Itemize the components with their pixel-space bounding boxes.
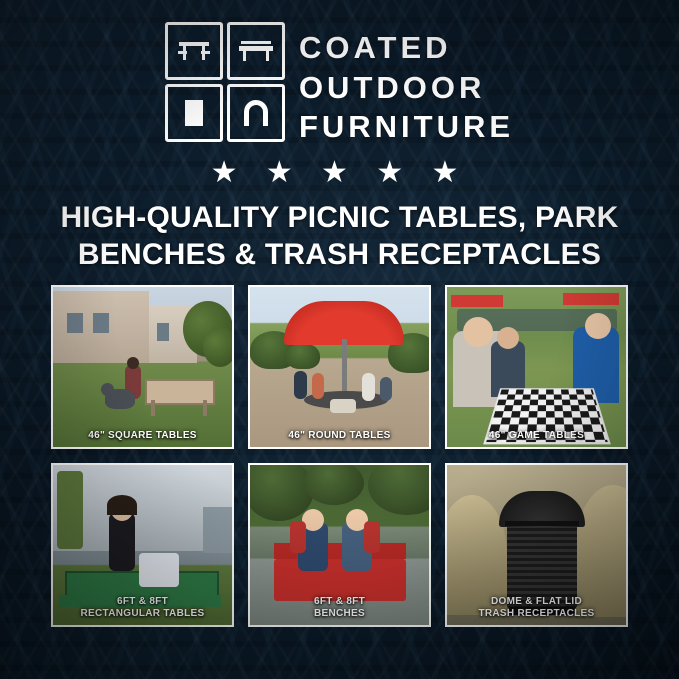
park-bench-icon [227, 22, 285, 80]
product-tile-round-tables[interactable]: 46" ROUND TABLES [248, 285, 431, 449]
product-tile-benches[interactable]: 6FT & 8FT BENCHES [248, 463, 431, 627]
page-title: HIGH-QUALITY PICNIC TABLES, PARK BENCHES… [30, 200, 649, 273]
logo-line-1: COATED [299, 28, 514, 68]
product-photo-square-tables [53, 287, 232, 447]
picnic-table-icon [165, 22, 223, 80]
caption-line-2: TRASH RECEPTACLES [451, 608, 622, 620]
product-tile-trash-receptacles[interactable]: DOME & FLAT LID TRASH RECEPTACLES [445, 463, 628, 627]
product-caption: 6FT & 8FT BENCHES [250, 596, 429, 619]
product-photo-game-tables [447, 287, 626, 447]
product-photo-round-tables [250, 287, 429, 447]
product-grid: 46" SQUARE TABLES [51, 285, 628, 627]
star-rating: ★ ★ ★ ★ ★ [0, 158, 679, 188]
poster-content: COATED OUTDOOR FURNITURE ★ ★ ★ ★ ★ HIGH-… [0, 0, 679, 679]
product-caption: 46" GAME TABLES [447, 430, 626, 442]
caption-line-1: 6FT & 8FT [254, 596, 425, 608]
caption-line-1: 46" SQUARE TABLES [57, 430, 228, 442]
brand-logo: COATED OUTDOOR FURNITURE [0, 22, 679, 147]
logo-mark [165, 22, 285, 142]
caption-line-1: 46" ROUND TABLES [254, 430, 425, 442]
arch-bench-icon [227, 84, 285, 142]
product-caption: 46" ROUND TABLES [250, 430, 429, 442]
logo-line-3: FURNITURE [299, 107, 514, 147]
product-tile-square-tables[interactable]: 46" SQUARE TABLES [51, 285, 234, 449]
logo-line-2: OUTDOOR [299, 68, 514, 108]
product-caption: 6FT & 8FT RECTANGULAR TABLES [53, 596, 232, 619]
headline-line-2: BENCHES & TRASH RECEPTACLES [30, 237, 649, 274]
caption-line-1: 6FT & 8FT [57, 596, 228, 608]
product-tile-rectangular-tables[interactable]: 6FT & 8FT RECTANGULAR TABLES [51, 463, 234, 627]
product-poster: COATED OUTDOOR FURNITURE ★ ★ ★ ★ ★ HIGH-… [0, 0, 679, 679]
product-caption: 46" SQUARE TABLES [53, 430, 232, 442]
caption-line-2: RECTANGULAR TABLES [57, 608, 228, 620]
caption-line-1: DOME & FLAT LID [451, 596, 622, 608]
product-caption: DOME & FLAT LID TRASH RECEPTACLES [447, 596, 626, 619]
headline-line-1: HIGH-QUALITY PICNIC TABLES, PARK [30, 200, 649, 237]
logo-wordmark: COATED OUTDOOR FURNITURE [299, 22, 514, 147]
caption-line-2: BENCHES [254, 608, 425, 620]
trash-receptacle-icon [165, 84, 223, 142]
caption-line-1: 46" GAME TABLES [451, 430, 622, 442]
product-tile-game-tables[interactable]: 46" GAME TABLES [445, 285, 628, 449]
